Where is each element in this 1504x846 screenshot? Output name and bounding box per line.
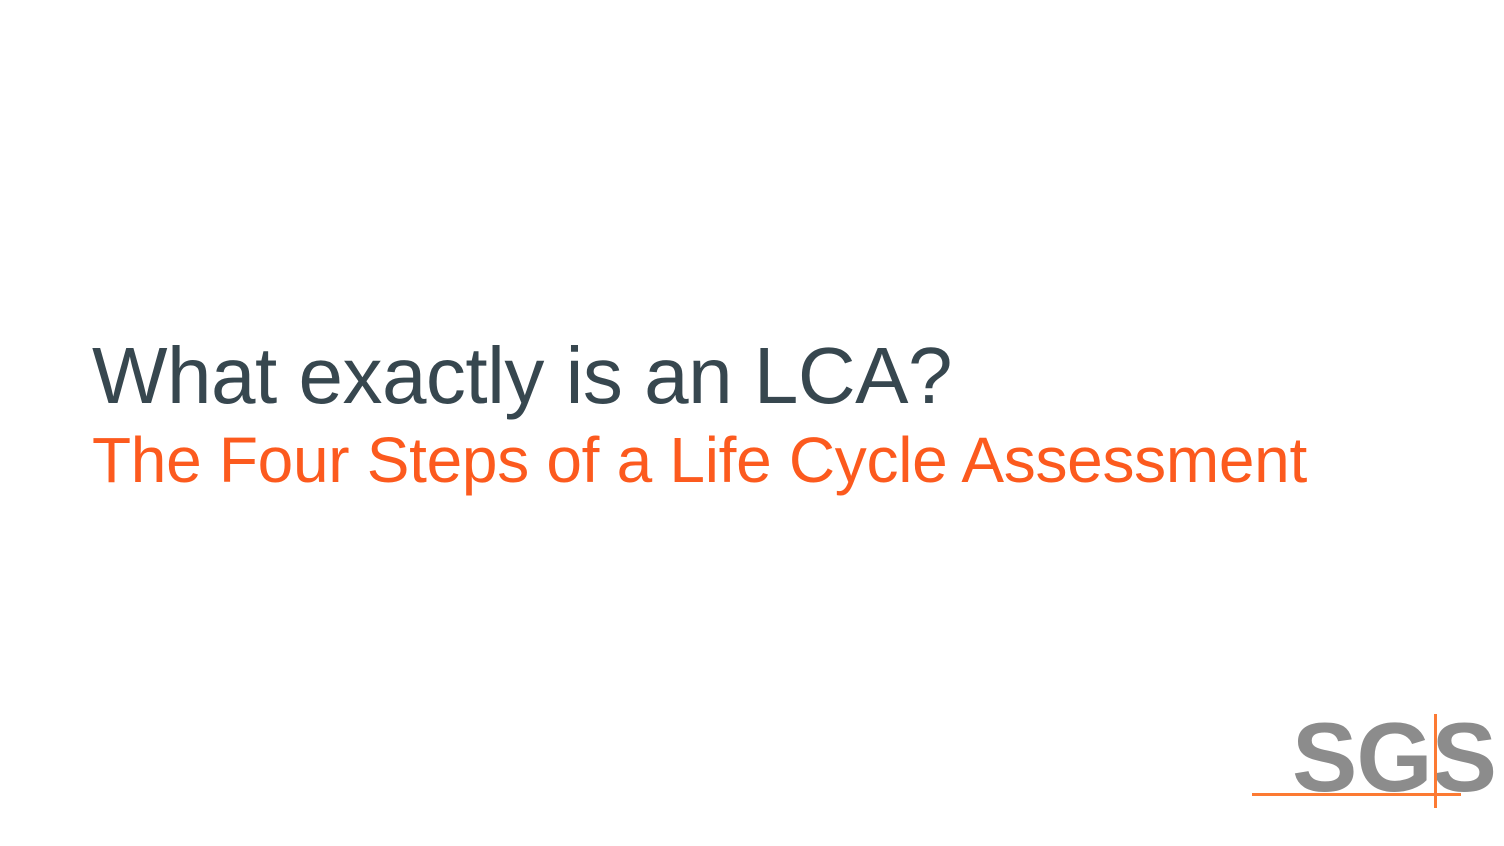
presentation-slide: What exactly is an LCA? The Four Steps o… — [0, 0, 1504, 846]
sgs-logo: SGS — [1248, 706, 1468, 816]
page-subtitle: The Four Steps of a Life Cycle Assessmen… — [92, 428, 1392, 492]
logo-vertical-rule-icon — [1434, 714, 1437, 808]
page-title: What exactly is an LCA? — [92, 336, 1392, 416]
sgs-wordmark: SGS — [1292, 712, 1496, 802]
title-block: What exactly is an LCA? The Four Steps o… — [92, 336, 1392, 492]
logo-horizontal-rule-icon — [1252, 793, 1461, 796]
